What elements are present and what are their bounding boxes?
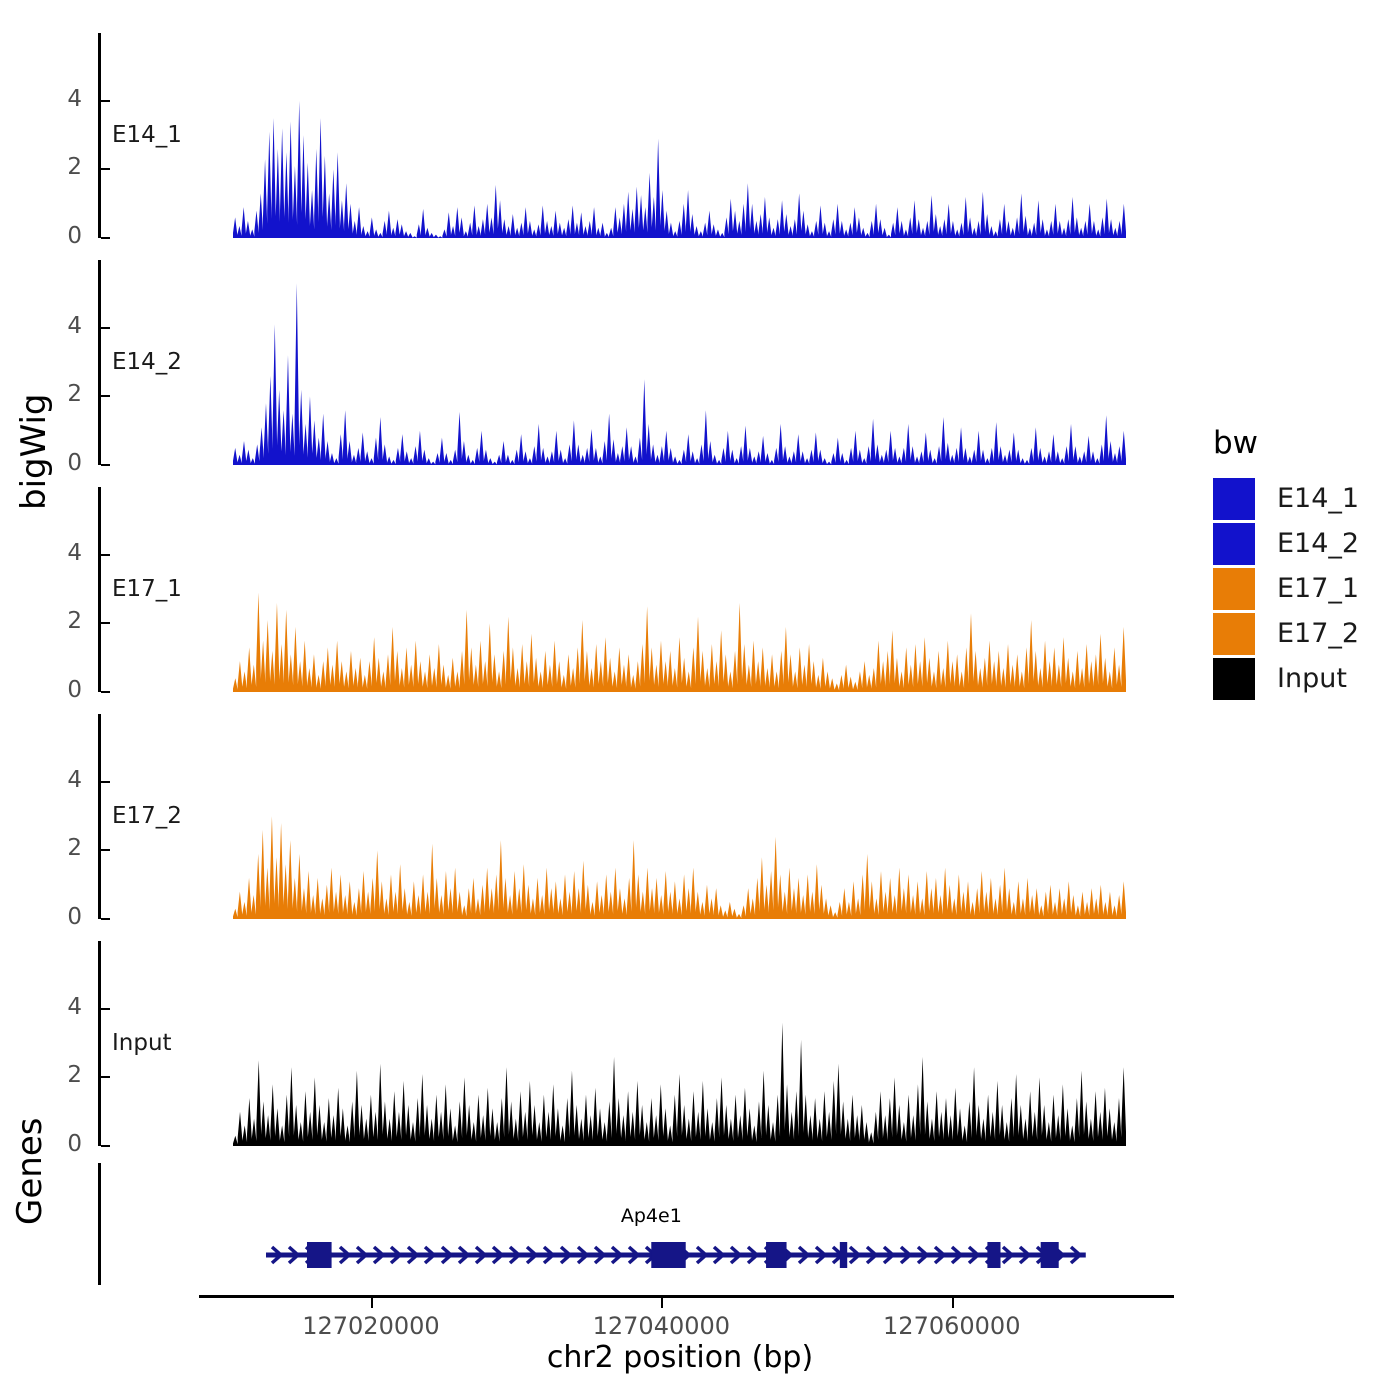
track-label-e14_1: E14_1 (112, 122, 182, 148)
y-axis-line (98, 33, 101, 238)
y-tick-label: 2 (10, 381, 82, 407)
legend-item-label: E14_1 (1277, 483, 1359, 514)
genes-axis-title: Genes (10, 1185, 50, 1225)
y-tick (101, 1145, 110, 1147)
signal-track-e14_2 (233, 260, 1126, 465)
x-tick-label: 127040000 (593, 1312, 730, 1340)
y-axis-line (98, 714, 101, 919)
y-tick (101, 622, 110, 624)
legend-item-e14_2[interactable]: E14_2 (1213, 522, 1359, 565)
y-tick-label: 0 (10, 904, 82, 930)
track-label-e14_2: E14_2 (112, 349, 182, 375)
track-label-e17_2: E17_2 (112, 803, 182, 829)
legend-swatch-icon (1213, 523, 1255, 565)
legend-item-label: Input (1277, 663, 1347, 694)
y-tick (101, 918, 110, 920)
y-tick (101, 1076, 110, 1078)
y-axis-line (98, 941, 101, 1146)
y-tick (101, 327, 110, 329)
x-tick (661, 1298, 663, 1308)
y-tick (101, 554, 110, 556)
signal-track-e17_2 (233, 714, 1126, 919)
legend-swatch-icon (1213, 568, 1255, 610)
y-tick-label: 0 (10, 677, 82, 703)
y-axis-line (98, 487, 101, 692)
legend-item-label: E17_1 (1277, 573, 1359, 604)
x-tick-label: 127020000 (302, 1312, 439, 1340)
legend-item-label: E14_2 (1277, 528, 1359, 559)
legend-title: bw (1213, 425, 1359, 461)
y-tick (101, 781, 110, 783)
legend-item-label: E17_2 (1277, 618, 1359, 649)
legend-item-e17_2[interactable]: E17_2 (1213, 612, 1359, 655)
y-tick (101, 100, 110, 102)
gene-name-label: Ap4e1 (621, 1205, 682, 1227)
legend-swatch-icon (1213, 658, 1255, 700)
y-tick (101, 464, 110, 466)
y-tick-label: 4 (10, 86, 82, 112)
y-tick-label: 0 (10, 1131, 82, 1157)
track-label-e17_1: E17_1 (112, 576, 182, 602)
legend-item-e14_1[interactable]: E14_1 (1213, 477, 1359, 520)
legend-item-e17_1[interactable]: E17_1 (1213, 567, 1359, 610)
signal-track-e14_1 (233, 33, 1126, 238)
y-tick-label: 2 (10, 1062, 82, 1088)
legend: bw E14_1E14_2E17_1E17_2Input (1213, 425, 1359, 702)
y-tick-label: 4 (10, 994, 82, 1020)
y-tick-label: 4 (10, 767, 82, 793)
y-tick-label: 2 (10, 608, 82, 634)
y-tick-label: 2 (10, 154, 82, 180)
y-tick-label: 0 (10, 223, 82, 249)
genes-panel-axis (98, 1163, 101, 1285)
x-tick-label: 127060000 (883, 1312, 1020, 1340)
legend-swatch-icon (1213, 613, 1255, 655)
y-axis-title: bigWig (14, 470, 54, 510)
track-label-input: Input (112, 1030, 172, 1056)
x-axis-title: chr2 position (bp) (200, 1340, 1160, 1375)
legend-swatch-icon (1213, 478, 1255, 520)
y-axis-line (98, 260, 101, 465)
gene-model-ap4e1[interactable] (266, 1238, 1094, 1272)
y-tick (101, 168, 110, 170)
y-tick (101, 1008, 110, 1010)
legend-item-input[interactable]: Input (1213, 657, 1359, 700)
y-tick-label: 2 (10, 835, 82, 861)
x-axis-line (199, 1295, 1174, 1298)
signal-track-input (233, 941, 1126, 1146)
x-tick (371, 1298, 373, 1308)
y-tick-label: 4 (10, 313, 82, 339)
legend-items: E14_1E14_2E17_1E17_2Input (1213, 477, 1359, 700)
y-tick-label: 4 (10, 540, 82, 566)
y-tick-label: 0 (10, 450, 82, 476)
y-tick (101, 395, 110, 397)
y-tick (101, 237, 110, 239)
signal-track-e17_1 (233, 487, 1126, 692)
y-tick (101, 691, 110, 693)
x-tick (952, 1298, 954, 1308)
y-tick (101, 849, 110, 851)
